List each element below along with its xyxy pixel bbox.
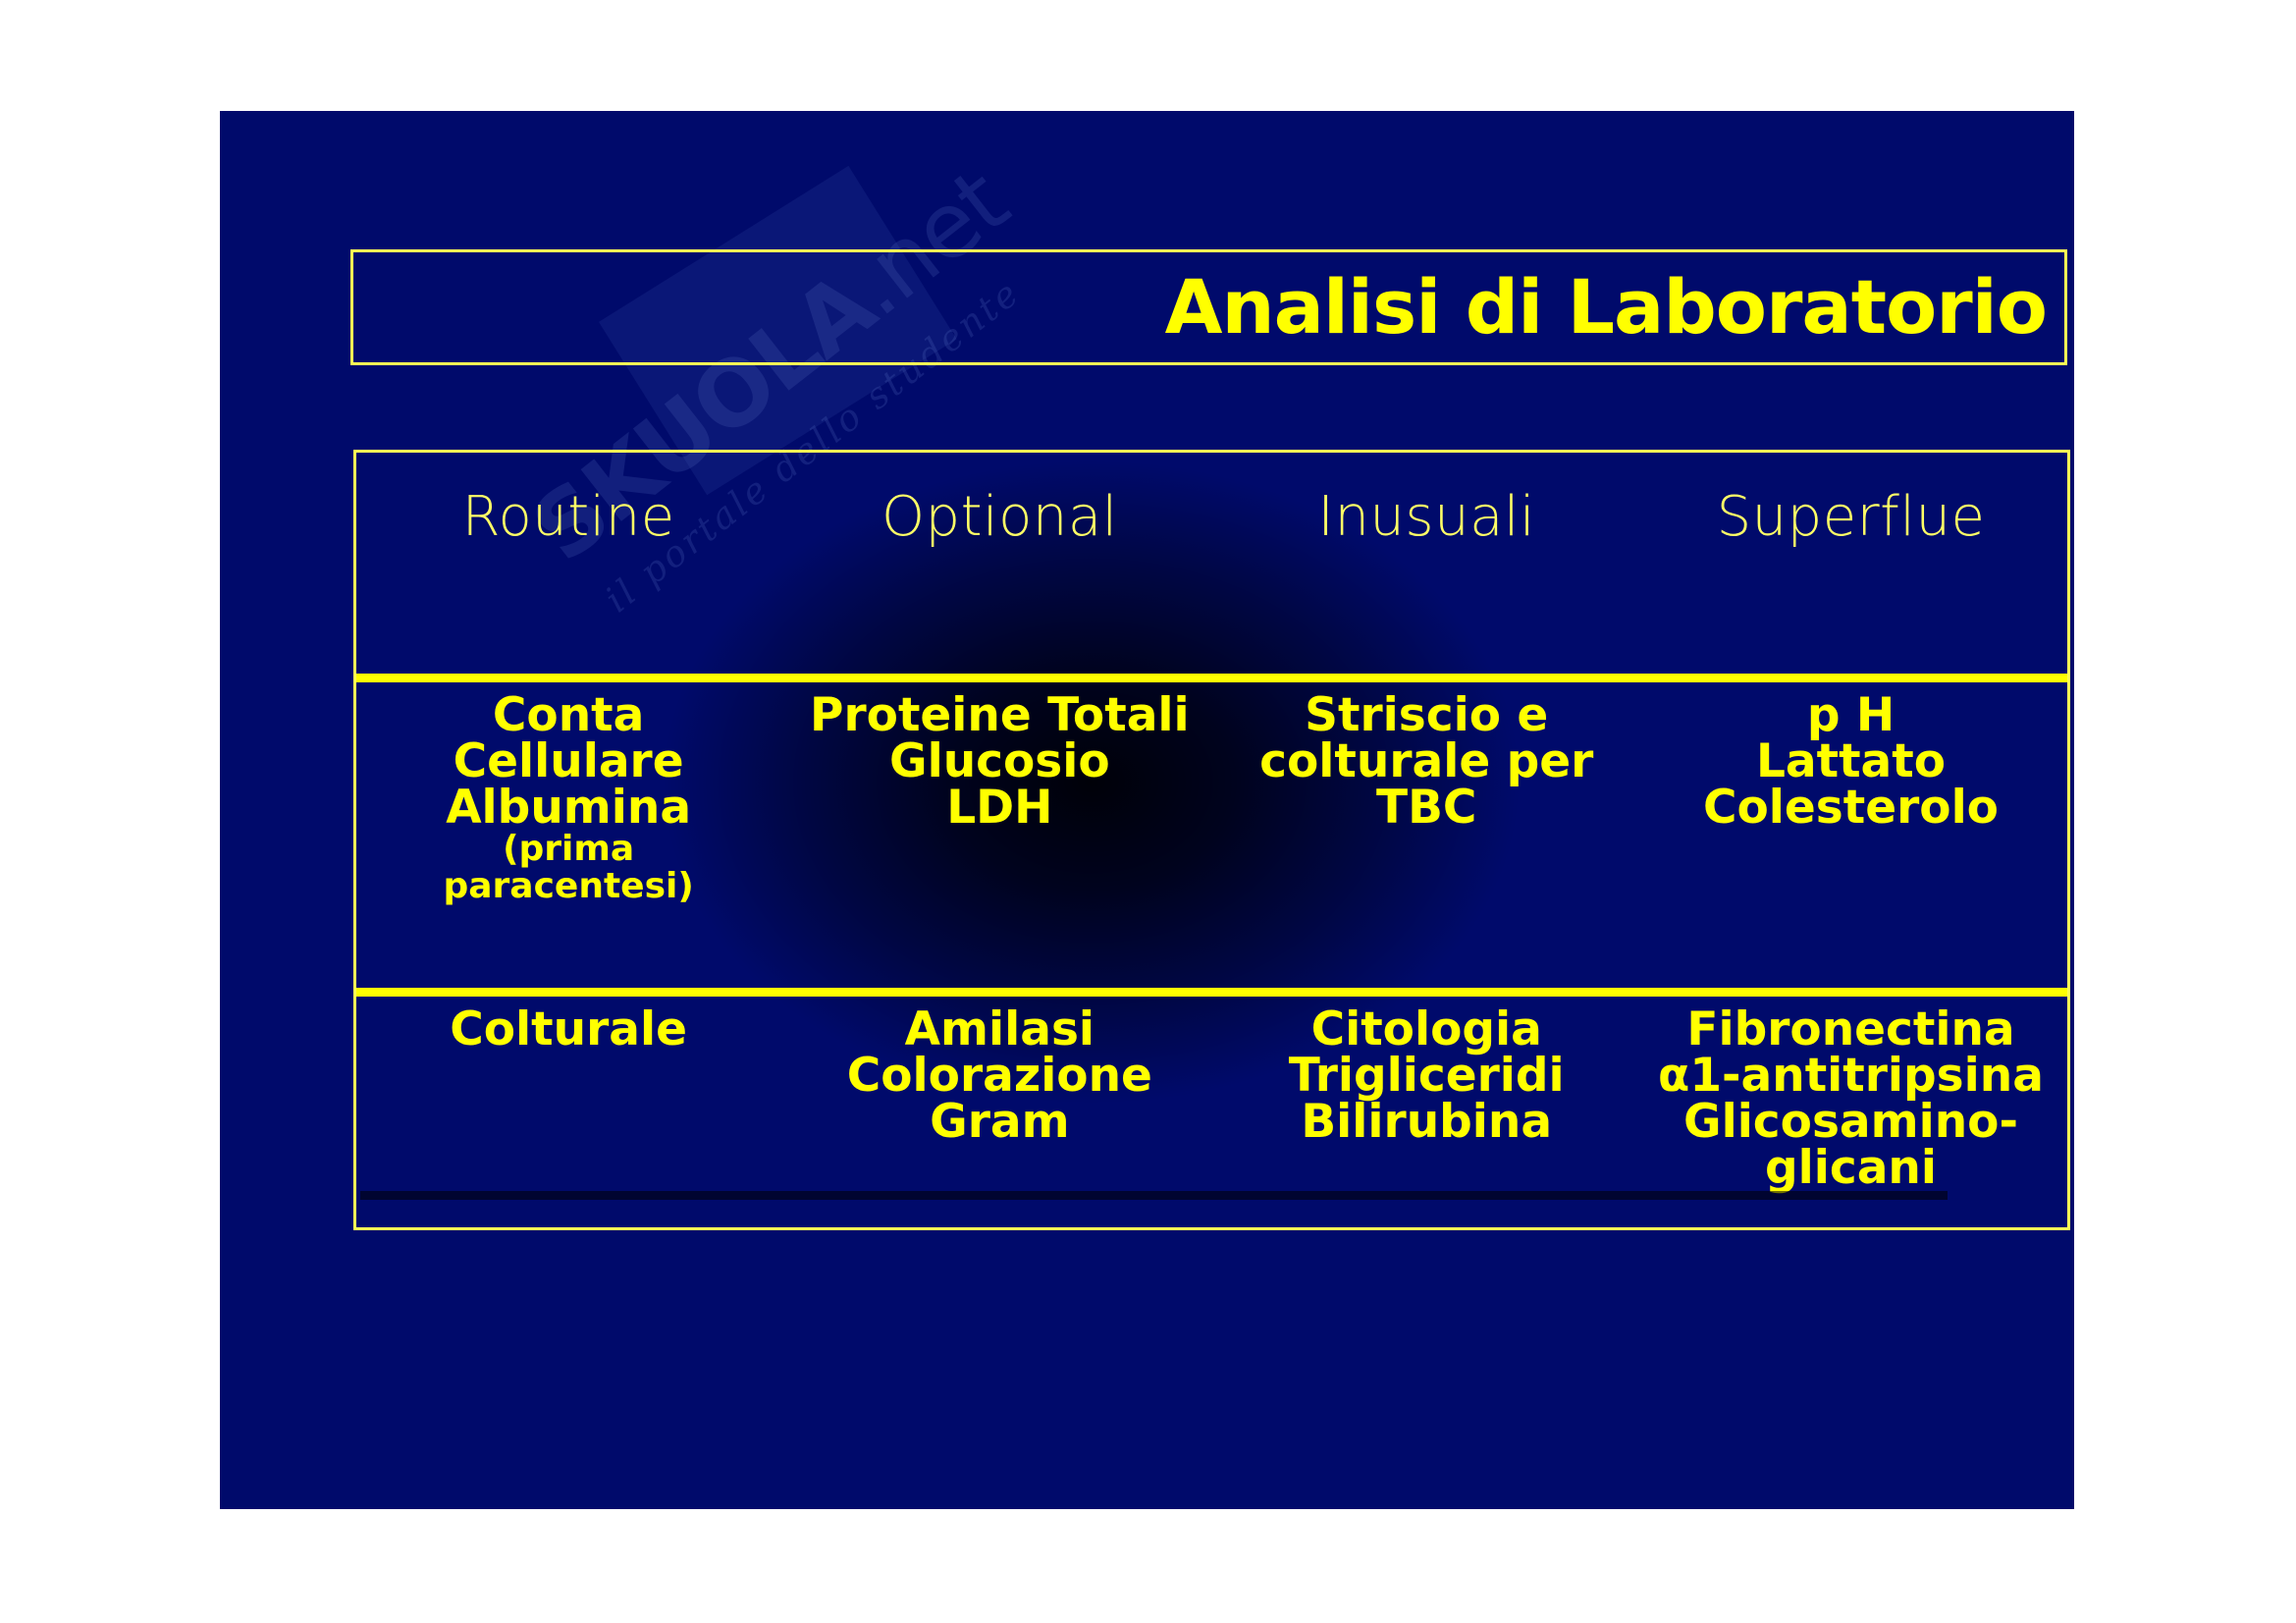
cell-line: Proteine Totali [781, 692, 1217, 738]
cell-line: Colesterolo [1635, 784, 2066, 831]
cell-line: Striscio e [1219, 692, 1633, 738]
cell-line: Albumina [357, 784, 779, 831]
cell-line: colturale per [1219, 738, 1633, 784]
cell-line: Lattato [1635, 738, 2066, 784]
cell-line: LDH [781, 784, 1217, 831]
cell-line: Amilasi [781, 1006, 1217, 1053]
table-cell-optional-primary: Proteine Totali Glucosio LDH [780, 678, 1218, 993]
column-header-superflue: Superflue [1634, 453, 2067, 678]
column-header-superflue-label: Superflue [1717, 485, 1986, 549]
table-cell-superflue-secondary: Fibronectina α1-antitripsina Glicosamino… [1634, 993, 2067, 1303]
table-cell-optional-secondary: Amilasi Colorazione Gram [780, 993, 1218, 1303]
table-row: Colturale Amilasi Colorazione Gram Citol… [356, 993, 2067, 1303]
table-cell-routine-secondary: Colturale [356, 993, 780, 1303]
cell-line: Glicosamino- [1635, 1099, 2066, 1145]
cell-line-small: (prima [357, 831, 779, 868]
slide-title-box: Analisi di Laboratorio [350, 249, 2067, 365]
cell-line: Bilirubina [1219, 1099, 1633, 1145]
table-header: Routine Optional Inusuali Superflue [356, 453, 2067, 678]
cell-line: TBC [1219, 784, 1633, 831]
table-body: Conta Cellulare Albumina (prima paracent… [356, 678, 2067, 1303]
cell-line: Colorazione [781, 1053, 1217, 1099]
cell-line: glicani [1635, 1145, 2066, 1191]
table-cell-routine-primary: Conta Cellulare Albumina (prima paracent… [356, 678, 780, 993]
column-header-optional: Optional [780, 453, 1218, 678]
lab-analysis-table-container: Routine Optional Inusuali Superflue Cont… [353, 450, 2070, 1230]
cell-line: α1-antitripsina [1635, 1053, 2066, 1099]
cell-line: Colturale [357, 1006, 779, 1053]
column-header-inusuali-label: Inusuali [1317, 485, 1535, 549]
table-row: Conta Cellulare Albumina (prima paracent… [356, 678, 2067, 993]
column-header-inusuali: Inusuali [1218, 453, 1634, 678]
column-header-routine: Routine [356, 453, 780, 678]
table-cell-superflue-primary: p H Lattato Colesterolo [1634, 678, 2067, 993]
cell-line-small: paracentesi) [357, 868, 779, 905]
cell-line: Trigliceridi [1219, 1053, 1633, 1099]
cell-line: p H [1635, 692, 2066, 738]
cell-line: Glucosio [781, 738, 1217, 784]
cell-line: Gram [781, 1099, 1217, 1145]
table-cell-inusuali-secondary: Citologia Trigliceridi Bilirubina [1218, 993, 1634, 1303]
cell-line: Conta [357, 692, 779, 738]
column-header-optional-label: Optional [881, 485, 1118, 549]
column-header-routine-label: Routine [462, 485, 675, 549]
lab-analysis-table: Routine Optional Inusuali Superflue Cont… [356, 453, 2067, 1302]
slide-canvas: SKUOLA.net il portale dello studente Ana… [220, 111, 2074, 1509]
cell-line: Cellulare [357, 738, 779, 784]
cell-line: Fibronectina [1635, 1006, 2066, 1053]
table-header-row: Routine Optional Inusuali Superflue [356, 453, 2067, 678]
table-cell-inusuali-primary: Striscio e colturale per TBC [1218, 678, 1634, 993]
cell-line: Citologia [1219, 1006, 1633, 1053]
page-title: Analisi di Laboratorio [1165, 270, 2064, 345]
